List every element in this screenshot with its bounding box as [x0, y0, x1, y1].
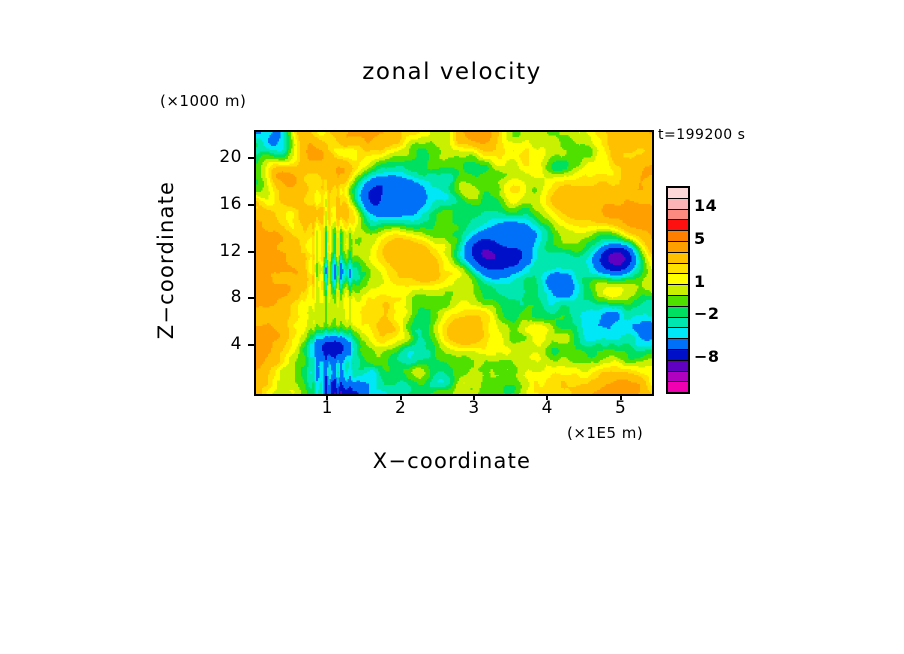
- contour-field: [256, 132, 652, 394]
- time-stamp-label: t=199200 s: [658, 127, 745, 143]
- colorbar-band: [668, 381, 688, 392]
- y-tick: [248, 251, 254, 253]
- colorbar-band: [668, 306, 688, 317]
- colorbar-band: [668, 327, 688, 338]
- contour-plot-area: [254, 130, 654, 396]
- y-tick-label: 8: [198, 287, 242, 307]
- x-tick-label: 2: [381, 398, 421, 418]
- colorbar-band: [668, 371, 688, 382]
- y-tick: [248, 204, 254, 206]
- y-tick-label: 20: [198, 147, 242, 167]
- x-axis-unit-label: (×1E5 m): [567, 424, 643, 442]
- y-tick: [248, 344, 254, 346]
- colorbar-band: [668, 338, 688, 349]
- x-axis-title: X−coordinate: [0, 449, 904, 473]
- colorbar-tick-label: −8: [694, 347, 720, 366]
- colorbar-band: [668, 263, 688, 274]
- colorbar-band: [668, 360, 688, 371]
- colorbar-tick-label: 5: [694, 229, 706, 248]
- colorbar-band: [668, 230, 688, 241]
- y-tick: [248, 297, 254, 299]
- y-tick: [248, 157, 254, 159]
- colorbar-band: [668, 219, 688, 230]
- y-tick-label: 16: [198, 194, 242, 214]
- y-axis-unit-label: (×1000 m): [160, 92, 246, 110]
- colorbar-band: [668, 198, 688, 209]
- colorbar-tick-label: 14: [694, 196, 717, 215]
- colorbar-band: [668, 209, 688, 220]
- colorbar-band: [668, 295, 688, 306]
- page-title: zonal velocity: [0, 59, 904, 85]
- colorbar-tick-label: 1: [694, 272, 706, 291]
- colorbar-band: [668, 273, 688, 284]
- y-tick-label: 4: [198, 334, 242, 354]
- colorbar-band: [668, 241, 688, 252]
- y-axis-title: Z−coordinate: [154, 150, 178, 370]
- colorbar-band: [668, 252, 688, 263]
- colorbar-band: [668, 188, 688, 198]
- x-tick-label: 4: [527, 398, 567, 418]
- colorbar-band: [668, 284, 688, 295]
- y-tick-label: 12: [198, 241, 242, 261]
- colorbar-tick-label: −2: [694, 304, 720, 323]
- colorbar-band: [668, 317, 688, 328]
- x-tick-label: 5: [601, 398, 641, 418]
- x-tick-label: 3: [454, 398, 494, 418]
- colorbar: [666, 186, 690, 394]
- x-tick-label: 1: [307, 398, 347, 418]
- colorbar-band: [668, 349, 688, 360]
